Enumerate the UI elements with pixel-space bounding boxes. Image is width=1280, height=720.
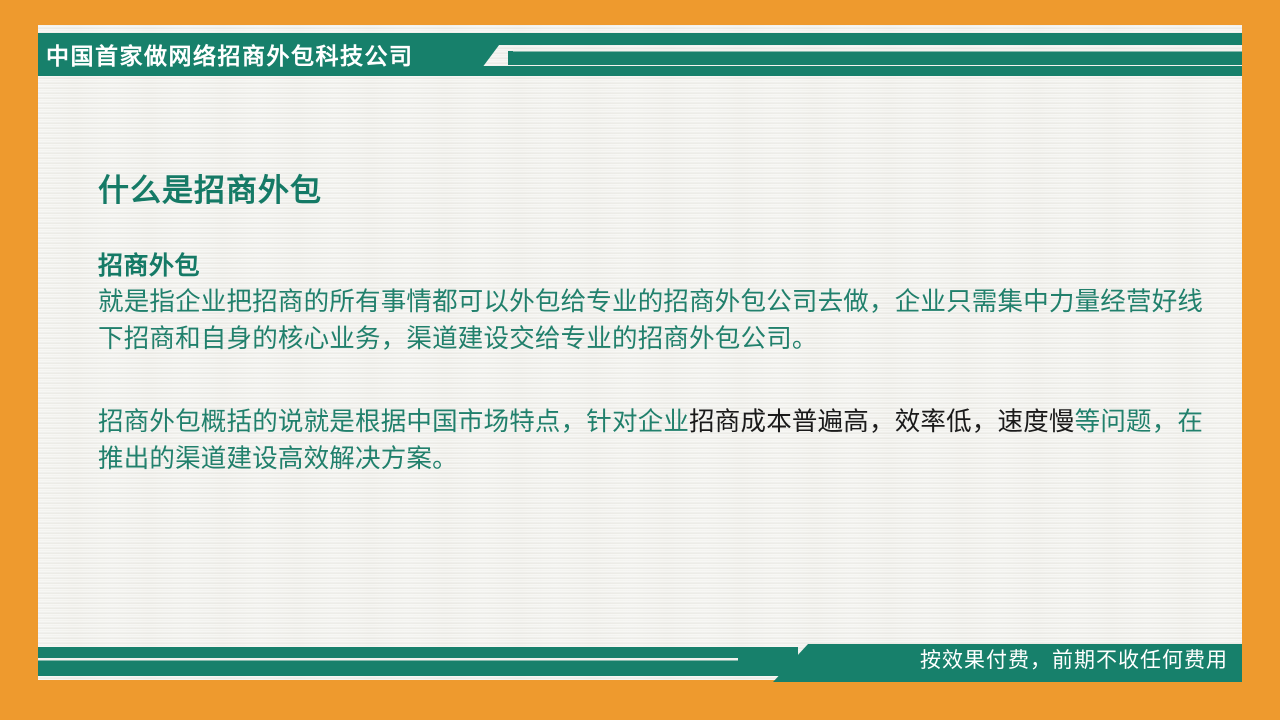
content-area: 什么是招商外包 招商外包 就是指企业把招商的所有事情都可以外包给专业的招商外包公… [98,172,1218,478]
header-ribbon-bar [508,51,1242,65]
summary-segment-emphasis: 招商成本普遍高，效率低，速度慢 [689,408,1075,436]
paragraph-summary: 招商外包概括的说就是根据中国市场特点，针对企业招商成本普遍高，效率低，速度慢等问… [98,404,1218,478]
footer-ribbon-hairline [38,658,738,661]
footer-ribbon-bar [38,647,798,676]
summary-segment-lead: 招商外包概括的说就是根据中国市场特点，针对企业 [98,408,689,436]
lead-term: 招商外包 [98,251,1218,282]
slide-canvas: 中国首家做网络招商外包科技公司 什么是招商外包 招商外包 就是指企业把招商的所有… [0,0,1280,720]
page-title: 什么是招商外包 [98,172,1218,209]
header-ribbon-hairline [513,49,1242,52]
header-title: 中国首家做网络招商外包科技公司 [46,45,414,68]
footer-tagline: 按效果付费，前期不收任何费用 [920,650,1228,671]
paragraph-definition: 就是指企业把招商的所有事情都可以外包给专业的招商外包公司去做，企业只需集中力量经… [98,284,1218,358]
